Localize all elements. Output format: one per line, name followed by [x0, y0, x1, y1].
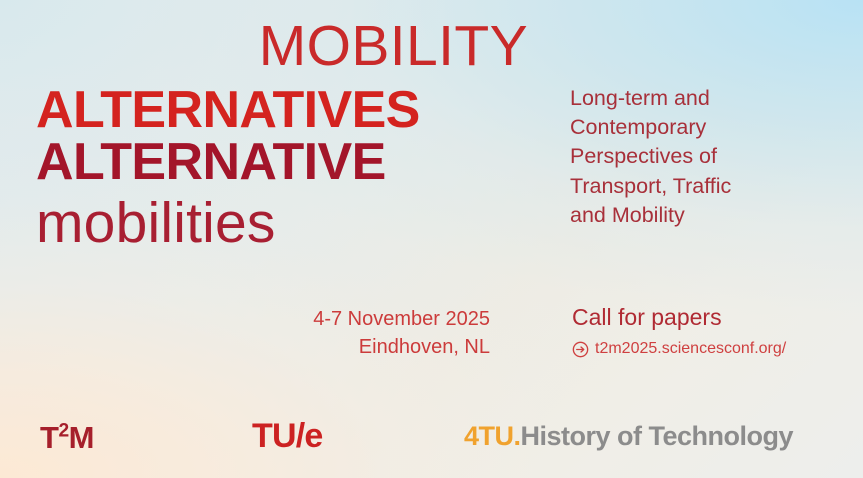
conference-url[interactable]: t2m2025.sciencesconf.org/: [595, 341, 786, 357]
logo-4tu-history-of-technology: 4TU.History of Technology: [464, 423, 793, 450]
subtitle-line-3: Perspectives of: [570, 142, 850, 171]
call-for-papers-title: Call for papers: [572, 304, 862, 332]
headline-line-mobility: MOBILITY: [36, 18, 556, 75]
subtitle-line-4: Transport, Traffic: [570, 172, 850, 201]
headline-line-alternatives: ALTERNATIVES: [36, 85, 556, 136]
conference-poster: MOBILITY ALTERNATIVES ALTERNATIVE mobili…: [0, 0, 863, 478]
call-for-papers-link[interactable]: t2m2025.sciencesconf.org/: [572, 341, 862, 358]
arrow-right-circle-icon: [572, 341, 589, 358]
subtitle-line-1: Long-term and: [570, 84, 850, 113]
event-location: Eindhoven, NL: [250, 333, 490, 361]
call-for-papers-block: Call for papers t2m2025.sciencesconf.org…: [572, 304, 862, 358]
headline-block: MOBILITY ALTERNATIVES ALTERNATIVE mobili…: [36, 18, 556, 252]
subtitle-line-5: and Mobility: [570, 201, 850, 230]
logo-t2m-superscript: 2: [58, 421, 68, 442]
logo-4tu-brand: 4TU.: [464, 421, 521, 451]
logo-t2m-tail: M: [69, 420, 94, 455]
subtitle-block: Long-term and Contemporary Perspectives …: [570, 84, 850, 230]
headline-line-alternative: ALTERNATIVE: [36, 137, 556, 188]
event-details-block: 4-7 November 2025 Eindhoven, NL: [250, 305, 490, 362]
event-dates: 4-7 November 2025: [250, 305, 490, 333]
logo-t2m: T2M: [40, 422, 94, 453]
logo-tue: TU/e: [252, 419, 322, 453]
logo-row: T2M TU/e 4TU.History of Technology: [0, 418, 863, 478]
subtitle-line-2: Contemporary: [570, 113, 850, 142]
logo-4tu-name: History of Technology: [521, 421, 794, 451]
headline-line-mobilities: mobilities: [36, 195, 556, 252]
logo-t2m-base: T: [40, 420, 58, 455]
